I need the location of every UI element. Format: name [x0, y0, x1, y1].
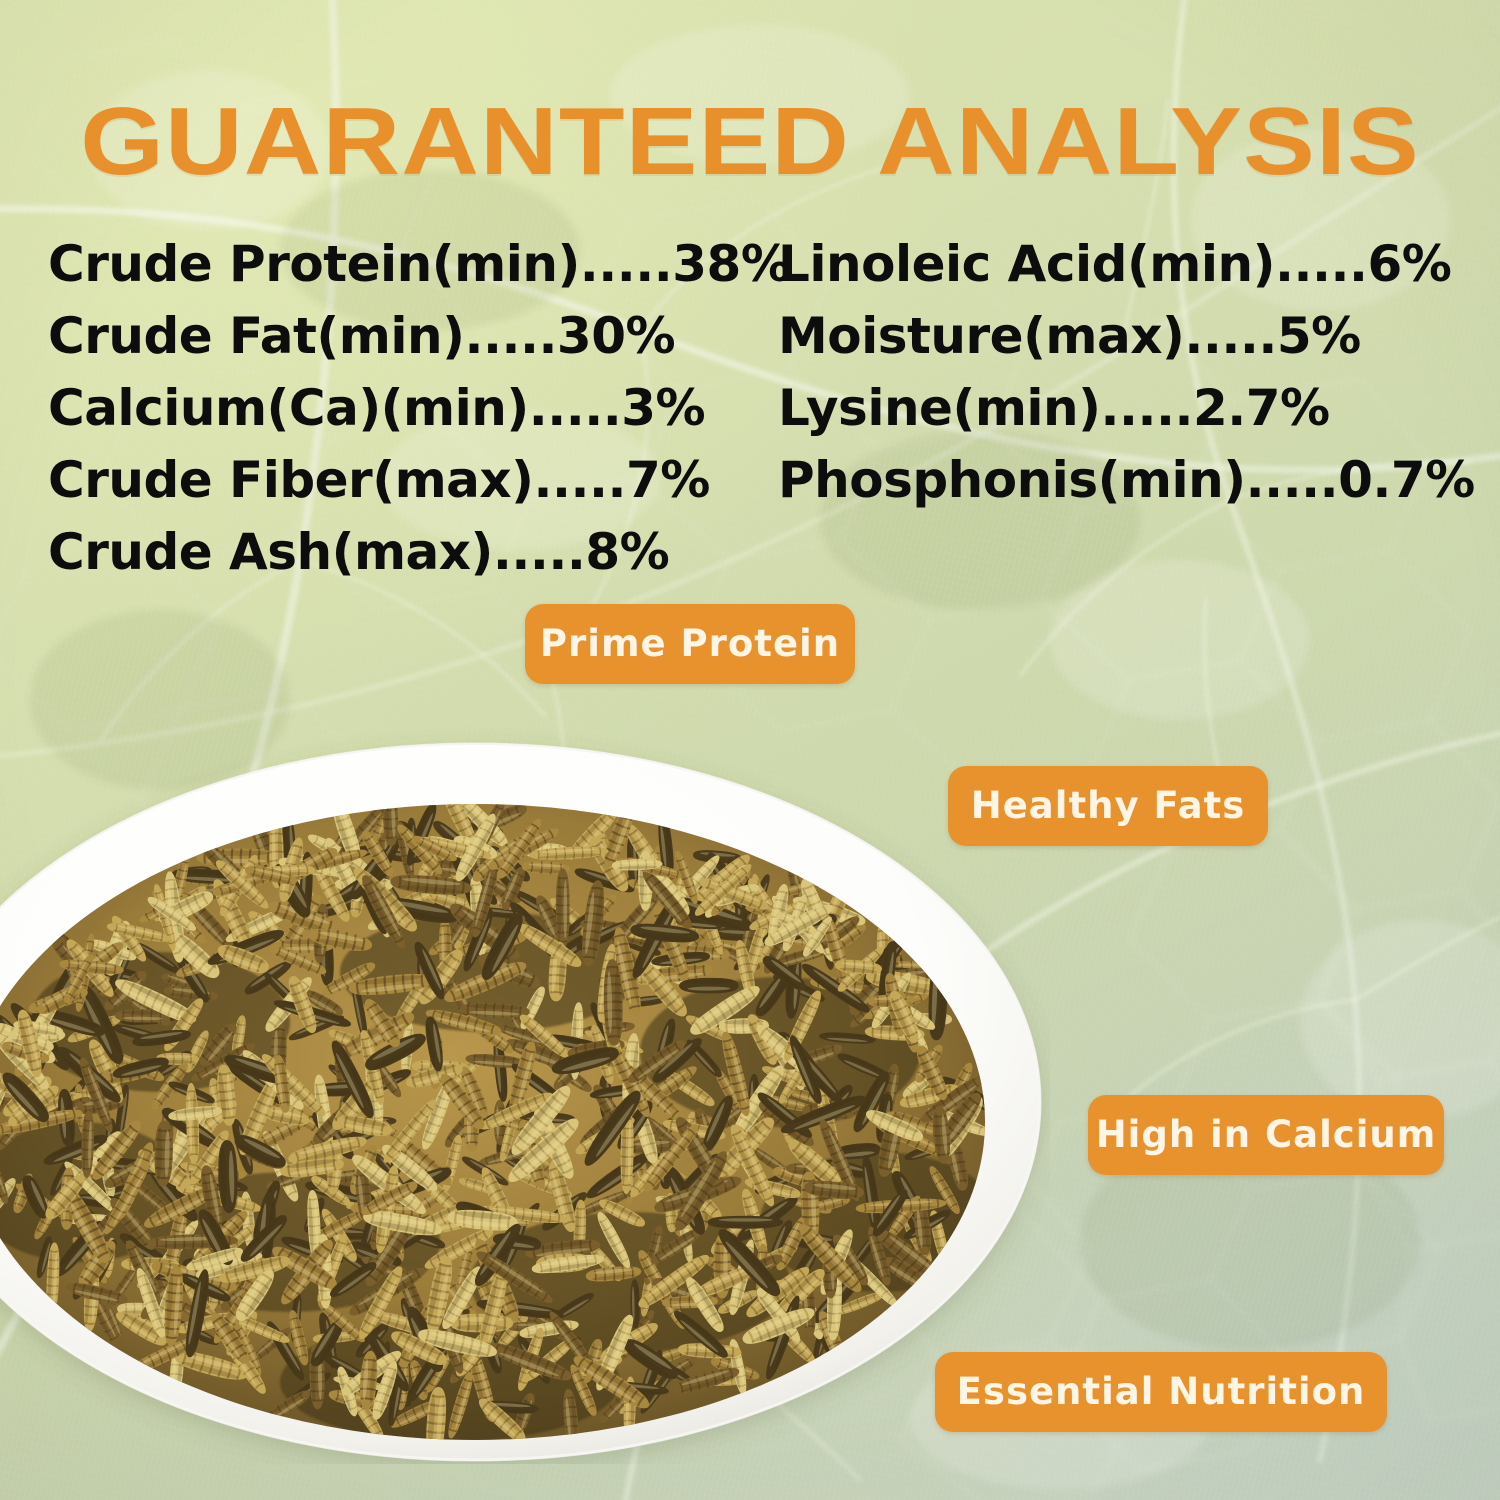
analysis-row: Linoleic Acid(min).....6% — [778, 228, 1468, 300]
analysis-row: Crude Ash(max).....8% — [48, 516, 778, 588]
analysis-row: Moisture(max).....5% — [778, 300, 1468, 372]
analysis-row: Lysine(min).....2.7% — [778, 372, 1468, 444]
badge-essential-nutrition: Essential Nutrition — [935, 1352, 1387, 1432]
analysis-row: Crude Fiber(max).....7% — [48, 444, 778, 516]
analysis-row: Crude Fat(min).....30% — [48, 300, 778, 372]
product-photo — [0, 722, 1050, 1464]
analysis-row: Calcium(Ca)(min).....3% — [48, 372, 778, 444]
guaranteed-analysis-list: Crude Protein(min).....38% Crude Fat(min… — [48, 228, 1468, 588]
plate-with-larvae — [0, 722, 1050, 1464]
infographic-poster: GUARANTEED ANALYSIS Crude Protein(min)..… — [0, 0, 1500, 1500]
analysis-row: Phosphonis(min).....0.7% — [778, 444, 1468, 516]
analysis-row: Crude Protein(min).....38% — [48, 228, 778, 300]
badge-high-in-calcium: High in Calcium — [1088, 1095, 1444, 1175]
badge-prime-protein: Prime Protein — [525, 604, 855, 684]
page-title: GUARANTEED ANALYSIS — [0, 92, 1500, 192]
badge-healthy-fats: Healthy Fats — [948, 766, 1268, 846]
analysis-right-column: Linoleic Acid(min).....6% Moisture(max).… — [778, 228, 1468, 516]
analysis-left-column: Crude Protein(min).....38% Crude Fat(min… — [48, 228, 778, 588]
